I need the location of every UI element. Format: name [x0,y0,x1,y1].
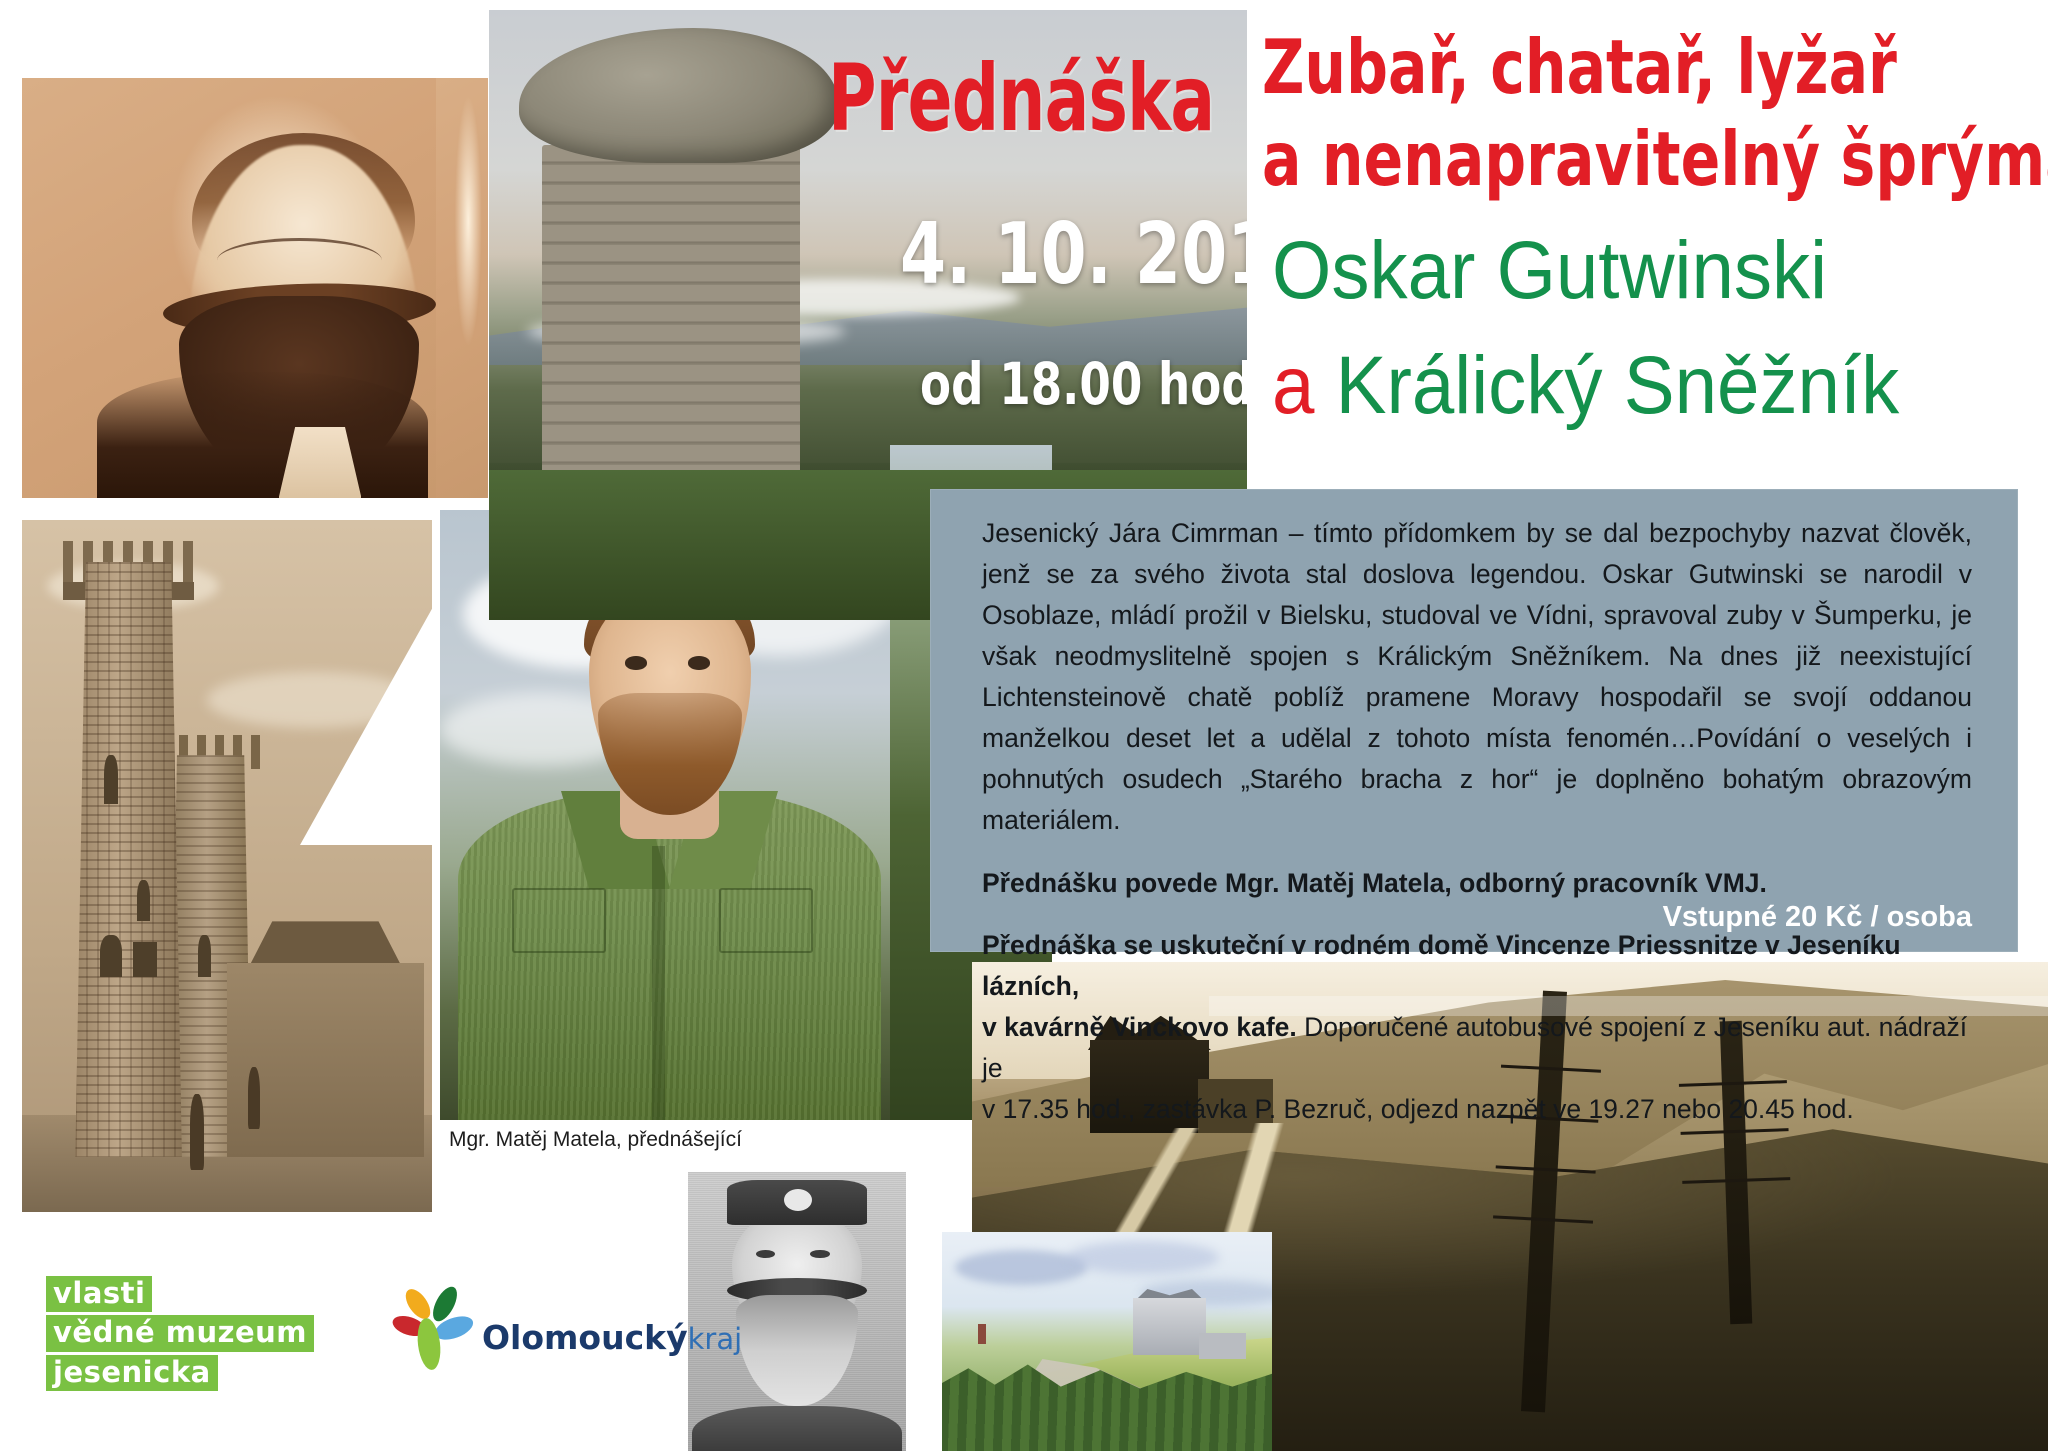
info-venue-line1: Přednáška se uskuteční v rodném domě Vin… [982,930,1901,1001]
poster-canvas: Přednáška 4. 10. 2018 od 18.00 hodin Zub… [0,0,2048,1451]
lecture-label: Přednáška [828,45,1214,152]
title-green-line2: a Králický Sněžník [1272,345,1899,427]
logo-museum-line2: vědné muzeum [46,1315,314,1351]
title-green-accent: a [1272,340,1314,431]
logo-region-text: Olomouckýkraj [482,1318,742,1357]
logo-vlastivedne-muzeum-jesenicka[interactable]: vlasti vědné muzeum jesenicka [46,1276,314,1394]
logo-olomoucky-kraj[interactable]: Olomouckýkraj [382,1278,662,1388]
title-green-line1: Oskar Gutwinski [1272,230,1827,312]
title-red-line1: Zubař, chatař, lyžař [1262,30,1897,105]
price-label: Vstupné 20 Kč / osoba [1663,901,1972,934]
info-venue-line2-bold: v kavárně Vinckovo kafe. [982,1012,1297,1042]
info-speaker-line: Přednášku povede Mgr. Matěj Matela, odbo… [982,863,1972,904]
logo-museum-line1: vlasti [46,1276,152,1312]
logo-region-light: kraj [688,1322,743,1356]
image-lookout-tower [22,520,432,1212]
info-speaker-text: Přednášku povede Mgr. Matěj Matela, odbo… [982,868,1767,898]
info-venue-line3: v 17.35 hod., zastávka P. Bezruč, odjezd… [982,1094,1854,1124]
image-watercolour-lodge [942,1232,1272,1451]
lecture-time: od 18.00 hodin [920,350,1301,418]
info-paragraph: Jesenický Jára Cimrman – tímto přídomkem… [982,513,1972,841]
logo-region-bold: Olomoucký [482,1318,688,1357]
info-venue-block: Přednáška se uskuteční v rodném domě Vin… [982,925,1972,1130]
image-old-man-with-cap [688,1172,906,1451]
logo-museum-line3: jesenicka [46,1355,218,1391]
flower-icon [382,1278,486,1382]
info-panel: Jesenický Jára Cimrman – tímto přídomkem… [930,489,2018,952]
title-red-line2: a nenapravitelný šprýmař [1262,122,2048,197]
image-portrait-gutwinski [22,78,436,498]
title-green-rest: Králický Sněžník [1314,340,1899,431]
image-portrait-edge-sliver [436,78,488,498]
caption-speaker-photo: Mgr. Matěj Matela, přednášející [449,1128,742,1152]
